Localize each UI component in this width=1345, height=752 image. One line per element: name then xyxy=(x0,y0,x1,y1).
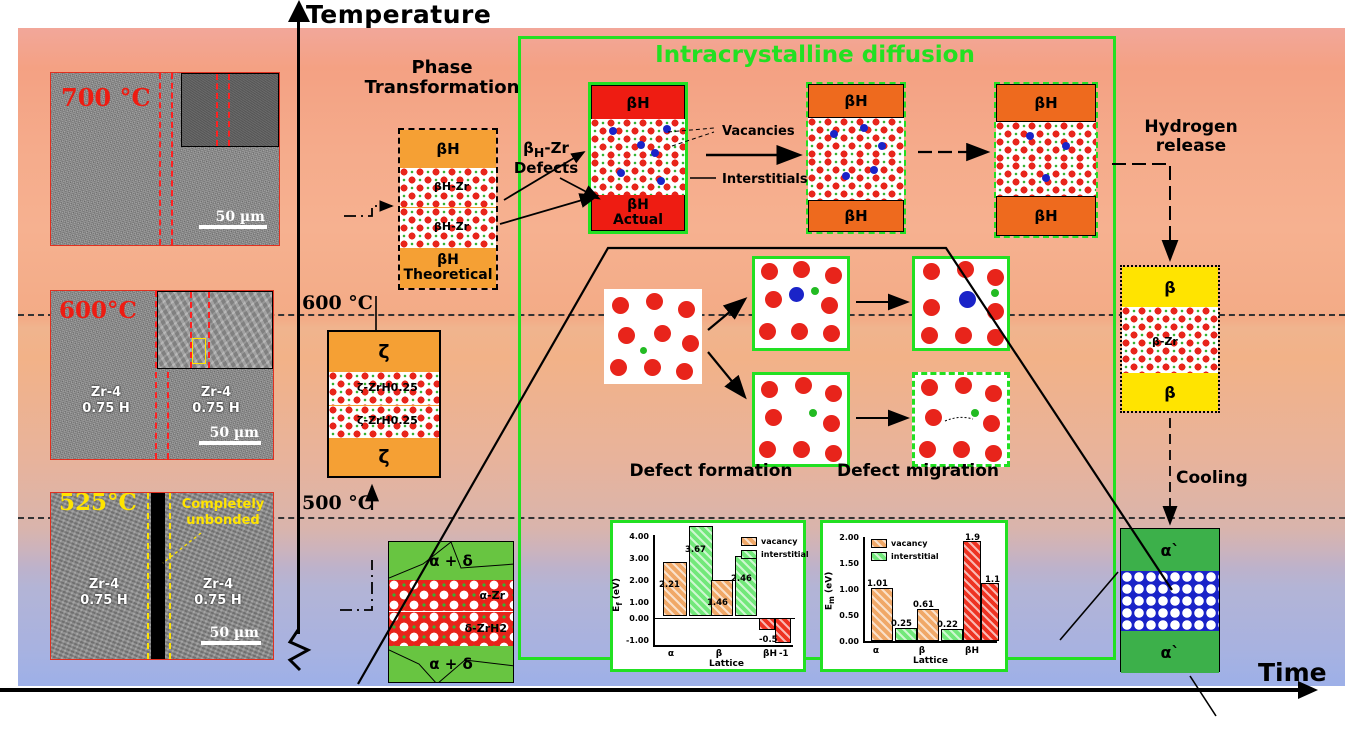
chart1-xlabel: Lattice xyxy=(709,659,744,669)
alpha-delta-seg-bottom: α + δ xyxy=(389,646,513,682)
axis-tick-500: 500 °C xyxy=(302,492,373,514)
beta-H-actual-stack: βH βH Actual xyxy=(588,82,688,234)
bar-m-value-beta-interstitial: 0.22 xyxy=(937,620,958,630)
xtick-alpha: α xyxy=(659,649,683,659)
temperature-axis-label: Temperature xyxy=(306,0,491,29)
zeta-stack: ζ ζ-ZrH0.25 ζ-ZrH0.25 ζ xyxy=(327,330,441,478)
stack-seg-bottom: βH xyxy=(437,253,459,268)
bar-m-value-alpha-vacancy: 1.01 xyxy=(867,579,888,589)
micrograph-600: 600°C Zr-40.75 H Zr-40.75 H 50 µm xyxy=(50,290,274,460)
time-axis-label: Time xyxy=(1258,658,1327,687)
actual-seg-top: βH xyxy=(591,85,685,119)
zeta-seg-bottom: ζ xyxy=(329,438,439,476)
time-axis-line xyxy=(0,688,1300,692)
chart2-xlabel: Lattice xyxy=(913,656,948,666)
bar-m-value-betaH-interstitial: 1.1 xyxy=(985,575,1000,585)
bar-m-alpha-interstitial xyxy=(895,628,917,641)
chart2-ylabel: Em (eV) xyxy=(824,572,836,610)
ytick-4: 0.00 xyxy=(619,614,649,623)
diffusion-panel-migration-bottom xyxy=(912,372,1010,467)
actual-seg-bottom: βH xyxy=(627,198,649,213)
legend-m-label-vacancy: vacancy xyxy=(891,539,927,548)
bar-m-alpha-vacancy xyxy=(871,588,893,641)
legend-label-vacancy: vacancy xyxy=(761,537,797,546)
defects-callout-label: βH-ZrDefects xyxy=(508,140,584,177)
micrograph-600-temperature: 600°C xyxy=(59,297,137,324)
bar-m-betaH-interstitial xyxy=(981,583,999,641)
bar-value-beta-interstitial: 2.46 xyxy=(731,574,752,584)
zeta-lattice-label-lower: ζ-ZrH0.25 xyxy=(357,414,418,427)
ytick-m-3: 0.50 xyxy=(827,611,859,620)
step2-seg-top: βH xyxy=(808,84,904,118)
micrograph-525: 525°C Completelyunbonded Zr-40.75 H Zr-4… xyxy=(50,492,274,660)
legend-m-swatch-interstitial xyxy=(871,552,887,561)
bar-value-alpha-interstitial: 3.67 xyxy=(685,545,706,555)
ytick-m-1: 1.50 xyxy=(827,559,859,568)
axis-tick-600: 600 °C xyxy=(302,292,373,314)
beta-zr-label: β-Zr xyxy=(1152,335,1178,348)
ytick-m-0: 2.00 xyxy=(827,533,859,542)
hydrogen-release-heading: Hydrogenrelease xyxy=(1126,118,1256,156)
micrograph-600-scalebar-label: 50 µm xyxy=(210,425,259,441)
vacancies-label: Vacancies xyxy=(722,124,795,139)
ytick-m-4: 0.00 xyxy=(827,637,859,646)
xtick-m-alpha: α xyxy=(865,646,887,656)
stack-seg-bottom-sub: Theoretical xyxy=(403,268,492,283)
diffusion-panel-migration-top xyxy=(912,256,1010,351)
step3-seg-top: βH xyxy=(996,84,1096,122)
bar-betaH-vacancy xyxy=(759,618,775,630)
xtick-m-betaH: βH xyxy=(959,646,985,656)
cooling-label: Cooling xyxy=(1176,468,1248,488)
alpha-prime-seg-top: α` xyxy=(1121,529,1219,571)
bar-m-beta-vacancy xyxy=(917,609,939,641)
bar-value-beta-vacancy: 1.46 xyxy=(707,598,728,608)
delta-zrh2-label: δ-ZrH2 xyxy=(465,622,507,635)
legend-m-label-interstitial: interstitial xyxy=(891,552,939,561)
defect-migration-chart: 1.01 0.25 0.61 0.22 1.9 1.1 2.00 1.50 1.… xyxy=(820,520,1008,672)
micrograph-700-scalebar-label: 50 µm xyxy=(216,209,265,225)
step2-seg-bottom: βH xyxy=(808,200,904,232)
micrograph-700: 700 °C 50 µm xyxy=(50,72,280,246)
beta-release-stack: β β-Zr β xyxy=(1120,265,1220,413)
bar-value-betaH-vacancy: -0.5 xyxy=(759,635,778,645)
diffusion-panel-formation-bottom xyxy=(752,372,850,467)
bar-m-value-betaH-vacancy: 1.9 xyxy=(965,533,980,543)
beta-H-step2-stack: βH βH xyxy=(806,82,906,234)
legend-swatch-vacancy xyxy=(741,537,757,546)
bar-m-betaH-vacancy xyxy=(963,541,981,641)
xtick-beta: β xyxy=(707,649,731,659)
alpha-delta-stack: α + δ α-Zr δ-ZrH2 α + δ xyxy=(388,541,514,683)
alpha-prime-stack: α` α` xyxy=(1120,528,1220,672)
bar-m-value-alpha-interstitial: 0.25 xyxy=(891,619,912,629)
diffusion-panel-formation-top xyxy=(752,256,850,351)
micrograph-525-scalebar-label: 50 µm xyxy=(210,625,259,641)
chart1-ylabel: Ef (eV) xyxy=(612,578,624,612)
phase-transformation-heading: PhaseTransformation xyxy=(352,58,532,98)
legend-label-interstitial: interstitial xyxy=(761,550,809,559)
ytick-5: -1.00 xyxy=(619,636,649,645)
ytick-1: 3.00 xyxy=(619,554,649,563)
diffusion-panel-initial xyxy=(604,289,702,384)
legend-swatch-interstitial xyxy=(741,550,757,559)
alpha-prime-seg-bottom: α` xyxy=(1121,631,1219,673)
intracrystalline-diffusion-title: Intracrystalline diffusion xyxy=(600,42,1030,68)
beta-H-theoretical-stack: βH βH-Zr βH-Zr βH Theoretical xyxy=(398,128,498,290)
xtick-m-beta: β xyxy=(911,646,933,656)
ytick-0: 4.00 xyxy=(619,532,649,541)
beta-release-seg-top: β xyxy=(1122,267,1218,307)
lattice-label-lower: βH-Zr xyxy=(434,220,469,233)
alpha-zr-label: α-Zr xyxy=(479,589,505,602)
alpha-delta-seg-top: α + δ xyxy=(389,542,513,580)
stack-seg-top: βH xyxy=(400,130,496,168)
defect-formation-heading: Defect formation xyxy=(606,462,816,481)
micrograph-700-temperature: 700 °C xyxy=(61,83,151,112)
bar-beta-interstitial xyxy=(735,556,757,616)
temperature-axis-line xyxy=(297,8,300,634)
zeta-lattice-label-upper: ζ-ZrH0.25 xyxy=(357,381,418,394)
xtick-betaH: βH xyxy=(757,649,783,659)
actual-seg-bottom-sub: Actual xyxy=(613,213,663,228)
zeta-seg-top: ζ xyxy=(329,332,439,372)
bar-m-value-beta-vacancy: 0.61 xyxy=(913,600,934,610)
legend-m-swatch-vacancy xyxy=(871,539,887,548)
bar-value-alpha-vacancy: 2.21 xyxy=(659,580,680,590)
interstitials-label: Interstitials xyxy=(722,172,808,187)
bar-m-beta-interstitial xyxy=(941,629,963,641)
beta-H-step3-stack: βH βH xyxy=(994,82,1098,238)
step3-seg-bottom: βH xyxy=(996,196,1096,236)
defect-migration-heading: Defect migration xyxy=(818,462,1018,481)
defect-formation-chart: 2.21 3.67 1.46 2.46 -0.5 -1 4.00 3.00 2.… xyxy=(610,520,806,672)
beta-release-seg-bottom: β xyxy=(1122,373,1218,411)
lattice-label-upper: βH-Zr xyxy=(434,180,469,193)
